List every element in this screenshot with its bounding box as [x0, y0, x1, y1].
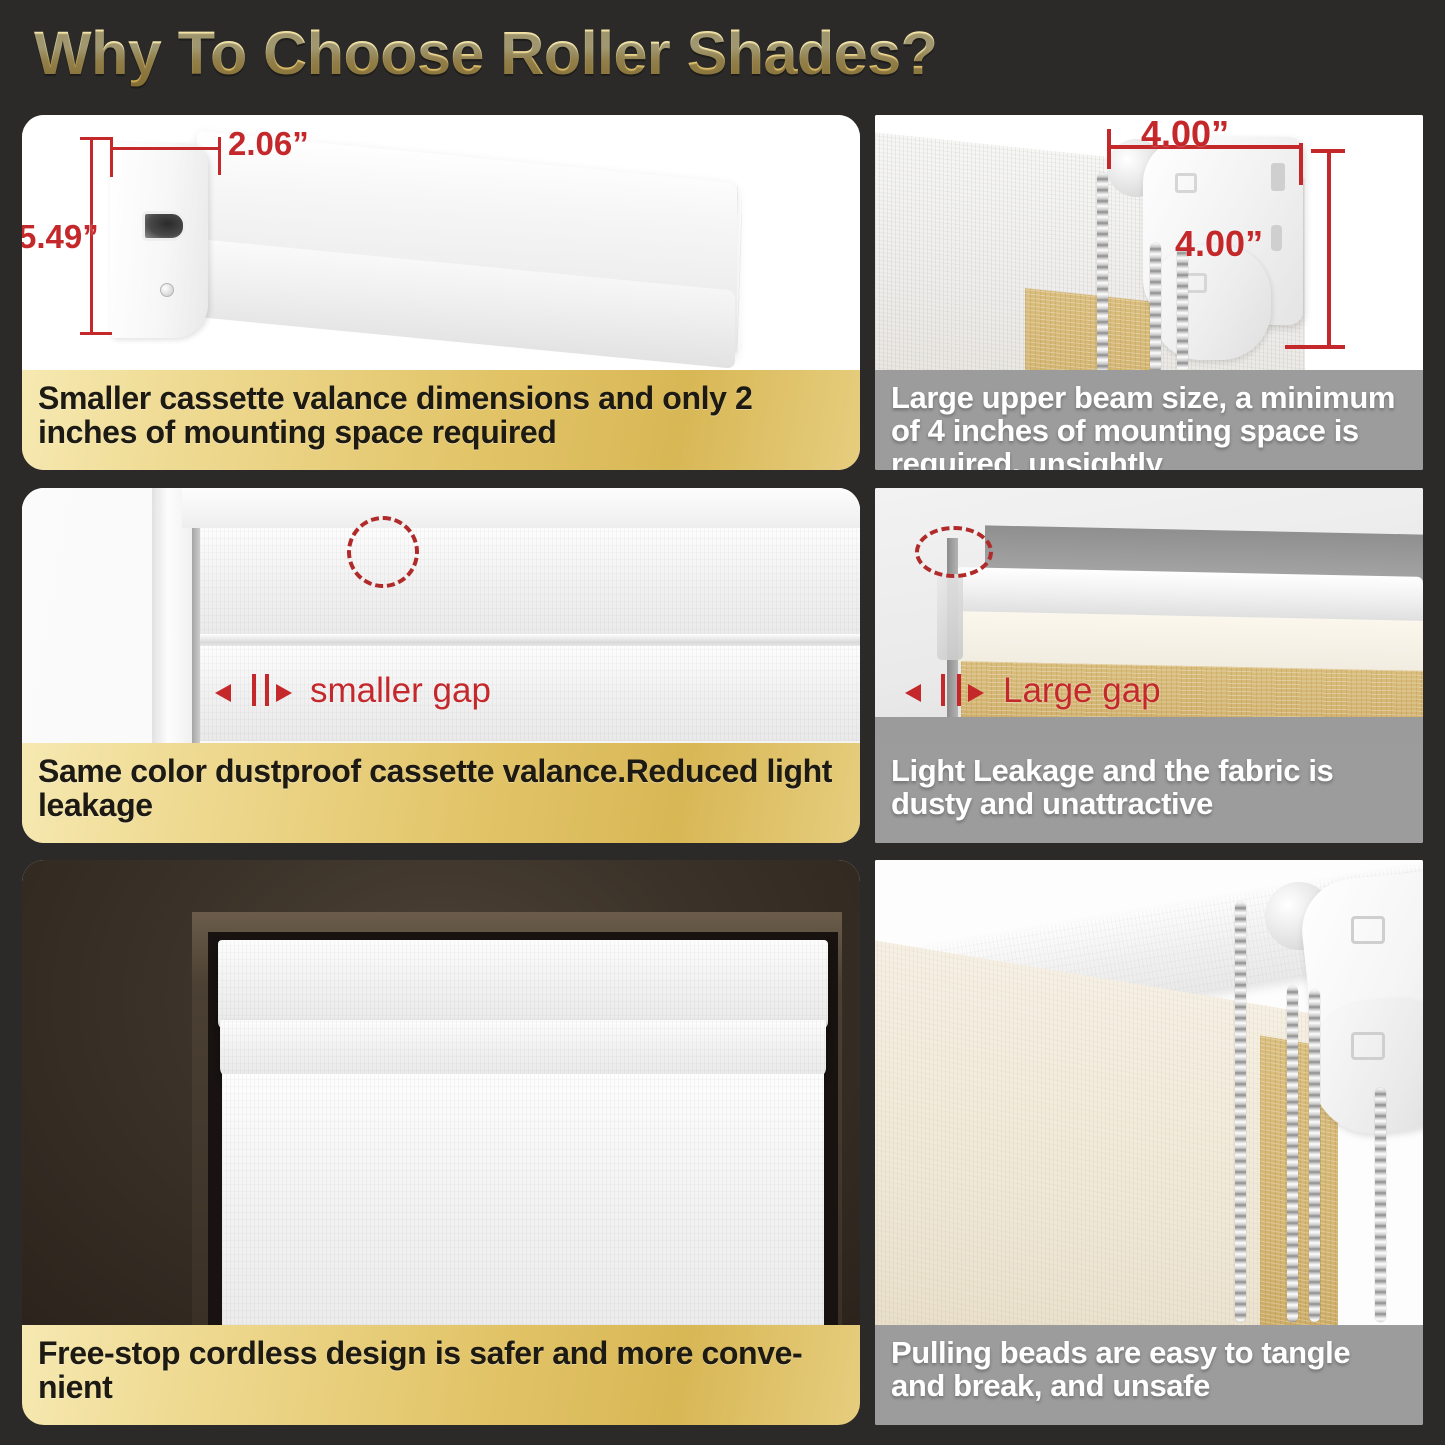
- bracket-emblem-2: [1351, 1032, 1385, 1060]
- dim-tick-top-h: [1311, 149, 1345, 153]
- bead-chain-middle: [1150, 243, 1161, 370]
- gap-arrow-right-icon: [276, 684, 292, 702]
- beam-bracket-slot-2: [1271, 225, 1282, 251]
- gap-marker-right: [957, 674, 961, 706]
- valance-slot: [142, 211, 186, 241]
- bottom-shadow-band: [875, 717, 1423, 743]
- bead-chain-2: [1287, 986, 1298, 1322]
- panel-free-stop-cordless-design: Free-stop cordless design is safer and m…: [22, 860, 860, 1425]
- panel-pulling-beads-unsafe: Pulling beads are easy to tangle and bre…: [875, 860, 1423, 1425]
- shade-roll-band: [220, 1020, 826, 1078]
- shade-fabric-panel: [222, 1074, 824, 1325]
- beam-bracket-slot-1: [1271, 163, 1285, 191]
- panel-5-caption: Free-stop cordless design is safer and m…: [22, 1325, 860, 1425]
- dim-tick-bottom-h: [1285, 345, 1345, 349]
- gap-arrow-left-icon: [215, 684, 231, 702]
- gap-marker-left: [252, 674, 256, 706]
- panel-3-photo: smaller gap: [22, 488, 860, 743]
- panel-4-caption: Light Leakage and the fabric is dusty an…: [875, 743, 1423, 843]
- panel-dustproof-cassette-valance: smaller gap Same color dustproof cassett…: [22, 488, 860, 843]
- dimension-label-height: 5.49”: [22, 218, 99, 256]
- panel-6-caption: Pulling beads are easy to tangle and bre…: [875, 1325, 1423, 1425]
- gap-arrow-right-icon: [968, 684, 984, 702]
- beam-bracket-emblem-2: [1185, 273, 1207, 293]
- beam-tan-fabric: [1025, 288, 1155, 370]
- bead-chain-1: [1235, 902, 1246, 1322]
- panel-5-photo: [22, 860, 860, 1325]
- beam-bracket-emblem-1: [1175, 173, 1197, 193]
- highlight-ellipse-icon: [915, 526, 993, 578]
- mounting-clip: [937, 574, 963, 660]
- cassette-valance: [218, 940, 828, 1030]
- panel-large-upper-beam: 4.00” 4.00” Large upper beam size, a min…: [875, 115, 1423, 470]
- dim-tick-top-h: [80, 137, 112, 140]
- bead-chain-4: [1375, 1088, 1386, 1322]
- dim-line-height: [1327, 149, 1331, 349]
- bead-chain-3: [1309, 990, 1320, 1322]
- dimension-label-width: 4.00”: [1141, 115, 1229, 155]
- gap-label: Large gap: [1003, 671, 1161, 711]
- panel-cassette-valance-dimensions: 2.06” 5.49” Smaller cassette valance dim…: [22, 115, 860, 470]
- dim-line-width: [112, 147, 220, 150]
- dimension-label-height: 4.00”: [1175, 223, 1263, 265]
- gap-arrow-left-icon: [905, 684, 921, 702]
- window-frame-top: [182, 488, 860, 528]
- dim-tick-left-v: [110, 137, 113, 177]
- dim-tick-right-v: [218, 137, 221, 175]
- highlight-ellipse-icon: [347, 516, 419, 588]
- panel-1-caption: Smaller cassette valance dimensions and …: [22, 370, 860, 470]
- dim-tick-right-v: [1299, 143, 1303, 185]
- page-title: Why To Choose Roller Shades?: [34, 18, 937, 88]
- shade-upper-fabric: [200, 526, 860, 644]
- dim-tick-left-v: [1107, 129, 1111, 169]
- gap-marker-left: [941, 674, 945, 706]
- valance-screw-icon: [160, 283, 174, 297]
- panel-3-caption: Same color dustproof cassette valance.Re…: [22, 743, 860, 843]
- dimension-label-width: 2.06”: [228, 125, 309, 163]
- dim-tick-bottom-h: [80, 332, 112, 335]
- bead-chain-left: [1097, 173, 1108, 370]
- bracket-emblem-1: [1351, 916, 1385, 944]
- panel-4-photo: Large gap: [875, 488, 1423, 743]
- panel-light-leakage-dusty-fabric: Large gap Light Leakage and the fabric i…: [875, 488, 1423, 843]
- panel-2-photo: 4.00” 4.00”: [875, 115, 1423, 370]
- panel-1-photo: 2.06” 5.49”: [22, 115, 860, 370]
- shade-lower-fabric: [200, 646, 860, 741]
- gap-marker-right: [265, 674, 269, 706]
- gap-label: smaller gap: [310, 671, 491, 711]
- panel-6-photo: [875, 860, 1423, 1325]
- bead-chain-right: [1177, 247, 1188, 370]
- panel-2-caption: Large upper beam size, a minimum of 4 in…: [875, 370, 1423, 470]
